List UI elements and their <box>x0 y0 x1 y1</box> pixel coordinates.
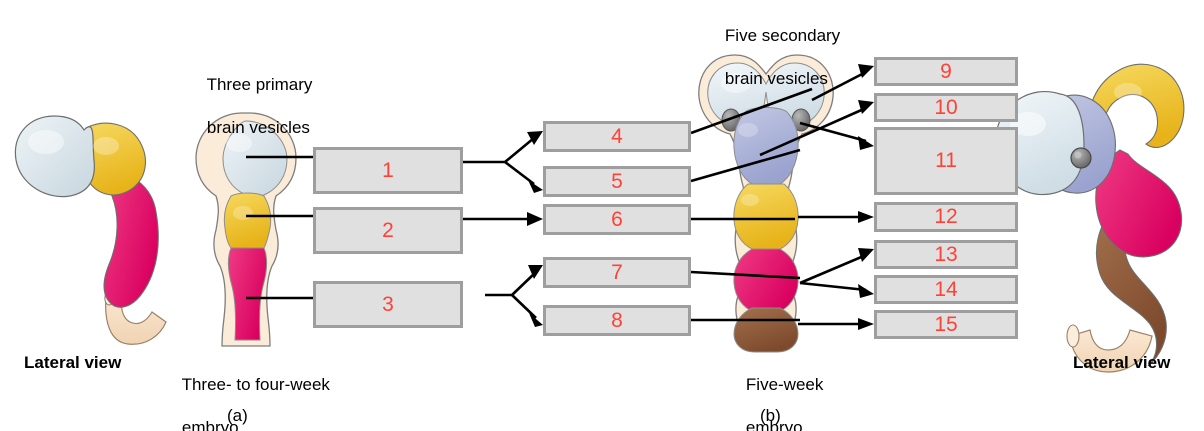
box-7[interactable]: 7 <box>543 257 691 288</box>
box-3[interactable]: 3 <box>313 281 463 328</box>
arrow-line-metencephalon-to-box-13 <box>800 255 866 283</box>
panel-letter-b: (b) <box>760 405 781 427</box>
caption-lateral-view-left: Lateral view <box>24 352 121 374</box>
arrowhead-to-box-14 <box>858 284 874 298</box>
box-13[interactable]: 13 <box>874 240 1018 269</box>
title-secondary-line2: brain vesicles <box>725 69 828 88</box>
arrowhead-to-box-6 <box>527 212 543 226</box>
title-secondary-line1: Five secondary <box>725 26 840 45</box>
arrowhead-to-box-7 <box>528 265 543 279</box>
arrowhead-to-box-13 <box>858 248 874 262</box>
arrow-line-pons-to-box-14 <box>800 283 866 290</box>
caption-lateral-view-right: Lateral view <box>1073 352 1170 374</box>
box-14[interactable]: 14 <box>874 275 1018 304</box>
box-6[interactable]: 6 <box>543 204 691 235</box>
arrow-line-diencephalon-to-box-10 <box>760 108 866 155</box>
box-5[interactable]: 5 <box>543 166 691 197</box>
left-lateral-brain-illustration <box>15 116 166 344</box>
line-box7-to-metencephalon <box>691 272 800 278</box>
line-box5-to-diencephalon <box>691 150 800 181</box>
arrowhead-to-box-4 <box>527 131 543 145</box>
arrowhead-to-box-15 <box>858 318 874 330</box>
right-lateral-brain-illustration <box>995 64 1183 372</box>
box-11[interactable]: 11 <box>874 127 1018 195</box>
box-10[interactable]: 10 <box>874 93 1018 122</box>
fork-branch-1-up <box>505 138 534 162</box>
arrowhead-to-box-9 <box>858 64 874 78</box>
title-five-secondary-vesicles: Five secondary brain vesicles <box>706 3 840 112</box>
box-15[interactable]: 15 <box>874 310 1018 339</box>
arrowhead-to-box-8 <box>529 313 543 327</box>
box-2[interactable]: 2 <box>313 207 463 254</box>
embryo-a-line1: Three- to four-week <box>182 375 330 394</box>
arrowhead-to-box-10 <box>858 100 874 114</box>
fork-branch-3-up <box>512 272 536 295</box>
title-primary-line2: brain vesicles <box>207 118 310 137</box>
figure-canvas: Three primary brain vesicles Five second… <box>0 0 1204 431</box>
arrowhead-to-box-5 <box>528 180 543 193</box>
box-12[interactable]: 12 <box>874 202 1018 232</box>
arrow-line-optic-to-box-11 <box>800 123 866 141</box>
arrowhead-to-box-11 <box>858 136 874 150</box>
embryo-b-line1: Five-week <box>746 375 823 394</box>
fork-branch-1-down <box>505 162 534 184</box>
title-three-primary-vesicles: Three primary brain vesicles <box>188 52 312 161</box>
fork-branch-3-down <box>512 295 536 318</box>
box-8[interactable]: 8 <box>543 305 691 336</box>
box-4[interactable]: 4 <box>543 121 691 152</box>
arrowhead-to-box-12 <box>858 211 874 223</box>
box-9[interactable]: 9 <box>874 57 1018 86</box>
title-primary-line1: Three primary <box>207 75 313 94</box>
box-1[interactable]: 1 <box>313 147 463 194</box>
panel-letter-a: (a) <box>227 405 248 427</box>
